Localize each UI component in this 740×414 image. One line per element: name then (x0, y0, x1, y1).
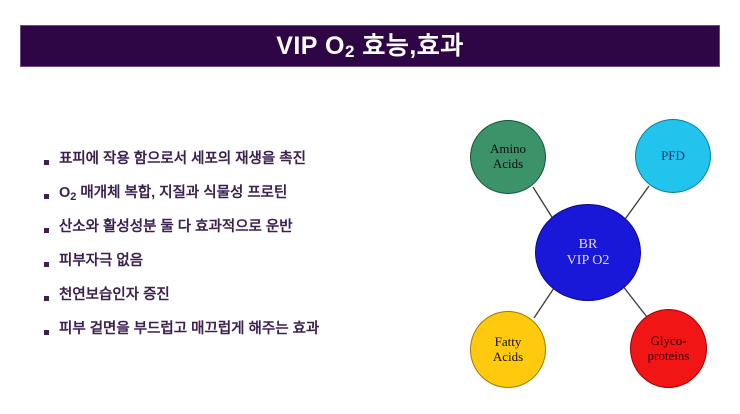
square-bullet-icon (44, 228, 49, 233)
bullet-list: 표피에 작용 함으로서 세포의 재생을 촉진 O2 매개체 복합, 지질과 식물… (44, 152, 444, 356)
title-subscript: 2 (345, 42, 355, 61)
diagram-node-amino-acids[interactable]: Amino Acids (470, 120, 546, 194)
diagram-node-glycoproteins[interactable]: Glyco- proteins (630, 309, 707, 388)
diagram-node-fatty-acids[interactable]: Fatty Acids (470, 311, 546, 388)
bullet-label: 피부 겉면을 부드럽고 매끄럽게 해주는 효과 (59, 322, 319, 338)
square-bullet-icon (44, 296, 49, 301)
node-label-line2: Acids (493, 157, 523, 172)
list-item: 피부자극 없음 (44, 254, 444, 288)
diagram-node-center-br-vip-o2[interactable]: BR VIP O2 (535, 204, 641, 301)
diagram-node-pfd[interactable]: PFD (635, 119, 711, 193)
radial-diagram: Amino Acids PFD BR VIP O2 Fatty Acids Gl… (455, 105, 730, 405)
node-label-line2: proteins (648, 349, 690, 364)
square-bullet-icon (44, 194, 49, 199)
connector-glyco (622, 285, 647, 317)
list-item: 산소와 활성성분 둘 다 효과적으로 운반 (44, 220, 444, 254)
node-label-line1: Glyco- (650, 334, 686, 349)
connector-fatty (534, 285, 556, 318)
node-label-line2: VIP O2 (567, 253, 610, 269)
slide-canvas: VIP O2 효능,효과 표피에 작용 함으로서 세포의 재생을 촉진 O2 매… (0, 0, 740, 414)
list-item: 천연보습인자 증진 (44, 288, 444, 322)
title-banner: VIP O2 효능,효과 (20, 25, 720, 67)
title-main: VIP O (276, 32, 345, 60)
bullet-label: 표피에 작용 함으로서 세포의 재생을 촉진 (59, 152, 306, 168)
list-item: 표피에 작용 함으로서 세포의 재생을 촉진 (44, 152, 444, 186)
title-suffix: 효능,효과 (355, 32, 464, 60)
square-bullet-icon (44, 160, 49, 165)
node-label-line1: Fatty (495, 335, 522, 350)
list-item: 피부 겉면을 부드럽고 매끄럽게 해주는 효과 (44, 322, 444, 356)
node-label-line2: Acids (493, 350, 523, 365)
connector-pfd (623, 186, 649, 222)
page-title: VIP O2 효능,효과 (276, 34, 464, 59)
node-label-line1: Amino (490, 142, 526, 157)
node-label-line1: BR (579, 237, 598, 253)
bullet-label: 피부자극 없음 (59, 254, 143, 270)
list-item: O2 매개체 복합, 지질과 식물성 프로틴 (44, 186, 444, 220)
bullet-label: 천연보습인자 증진 (59, 288, 170, 304)
bullet-label: O2 매개체 복합, 지질과 식물성 프로틴 (59, 186, 287, 202)
node-label-line1: PFD (661, 149, 685, 164)
square-bullet-icon (44, 262, 49, 267)
bullet-label: 산소와 활성성분 둘 다 효과적으로 운반 (59, 220, 293, 236)
square-bullet-icon (44, 330, 49, 335)
